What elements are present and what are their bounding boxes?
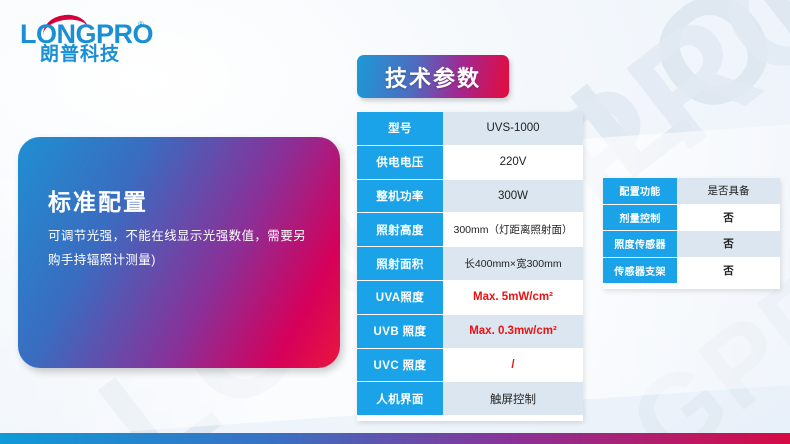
table-row: 照射面积 长400mm×宽300mm [357, 247, 583, 281]
option-label: 照度传感器 [603, 231, 677, 258]
table-row: UVA照度 Max. 5mW/cm² [357, 281, 583, 315]
logo-chinese-name: 朗普科技 [40, 45, 120, 64]
table-row: 整机功率 300W [357, 180, 583, 214]
option-value: 否 [677, 231, 780, 258]
section-title-banner: 技术参数 [357, 55, 509, 98]
spec-value: / [443, 349, 583, 383]
footer-gradient-bar [0, 433, 790, 444]
card-body-text: 可调节光强，不能在线显示光强数值，需要另购手持辐照计测量) [48, 224, 316, 273]
spec-value: UVS-1000 [443, 112, 583, 146]
table-row: 剂量控制 否 [603, 205, 780, 232]
table-row: UVC 照度 / [357, 349, 583, 383]
option-label: 配置功能 [603, 178, 677, 205]
slide-root: LON LONG NGPRO GPR LONGPRO ® 朗普科技 技术参数 标… [0, 0, 790, 444]
option-value: 否 [677, 205, 780, 232]
option-value: 否 [677, 258, 780, 285]
table-row: 人机界面 触屏控制 [357, 382, 583, 416]
spec-label: UVC 照度 [357, 349, 443, 383]
table-row: 型号 UVS-1000 [357, 112, 583, 146]
table-bottom-padding [603, 284, 780, 289]
company-logo: LONGPRO ® 朗普科技 [20, 12, 155, 64]
spec-value: Max. 5mW/cm² [443, 281, 583, 315]
registered-trademark-icon: ® [138, 20, 144, 29]
table-bottom-padding [357, 416, 583, 421]
spec-label: 型号 [357, 112, 443, 146]
option-table: 配置功能 是否具备 剂量控制 否 照度传感器 否 传感器支架 否 [603, 178, 780, 289]
card-title: 标准配置 [48, 183, 148, 217]
spec-value: 触屏控制 [443, 382, 583, 416]
table-row: 照射高度 300mm（灯距离照射面） [357, 213, 583, 247]
spec-value: 300W [443, 180, 583, 214]
section-title-text: 技术参数 [385, 61, 481, 93]
standard-configuration-card: 标准配置 可调节光强，不能在线显示光强数值，需要另购手持辐照计测量) [18, 137, 340, 368]
option-value: 是否具备 [677, 178, 780, 205]
spec-label: 整机功率 [357, 180, 443, 214]
spec-label: 照射高度 [357, 213, 443, 247]
spec-label: UVA照度 [357, 281, 443, 315]
spec-value: 300mm（灯距离照射面） [443, 213, 583, 247]
table-row: 配置功能 是否具备 [603, 178, 780, 205]
spec-value: 长400mm×宽300mm [443, 247, 583, 281]
table-row: 供电电压 220V [357, 146, 583, 180]
table-row: 照度传感器 否 [603, 231, 780, 258]
option-label: 传感器支架 [603, 258, 677, 285]
spec-value: Max. 0.3mw/cm² [443, 315, 583, 349]
table-row: UVB 照度 Max. 0.3mw/cm² [357, 315, 583, 349]
spec-table: 型号 UVS-1000 供电电压 220V 整机功率 300W 照射高度 300… [357, 112, 583, 421]
spec-label: 人机界面 [357, 382, 443, 416]
spec-label: 照射面积 [357, 247, 443, 281]
spec-label: UVB 照度 [357, 315, 443, 349]
spec-label: 供电电压 [357, 146, 443, 180]
spec-value: 220V [443, 146, 583, 180]
table-row: 传感器支架 否 [603, 258, 780, 285]
option-label: 剂量控制 [603, 205, 677, 232]
